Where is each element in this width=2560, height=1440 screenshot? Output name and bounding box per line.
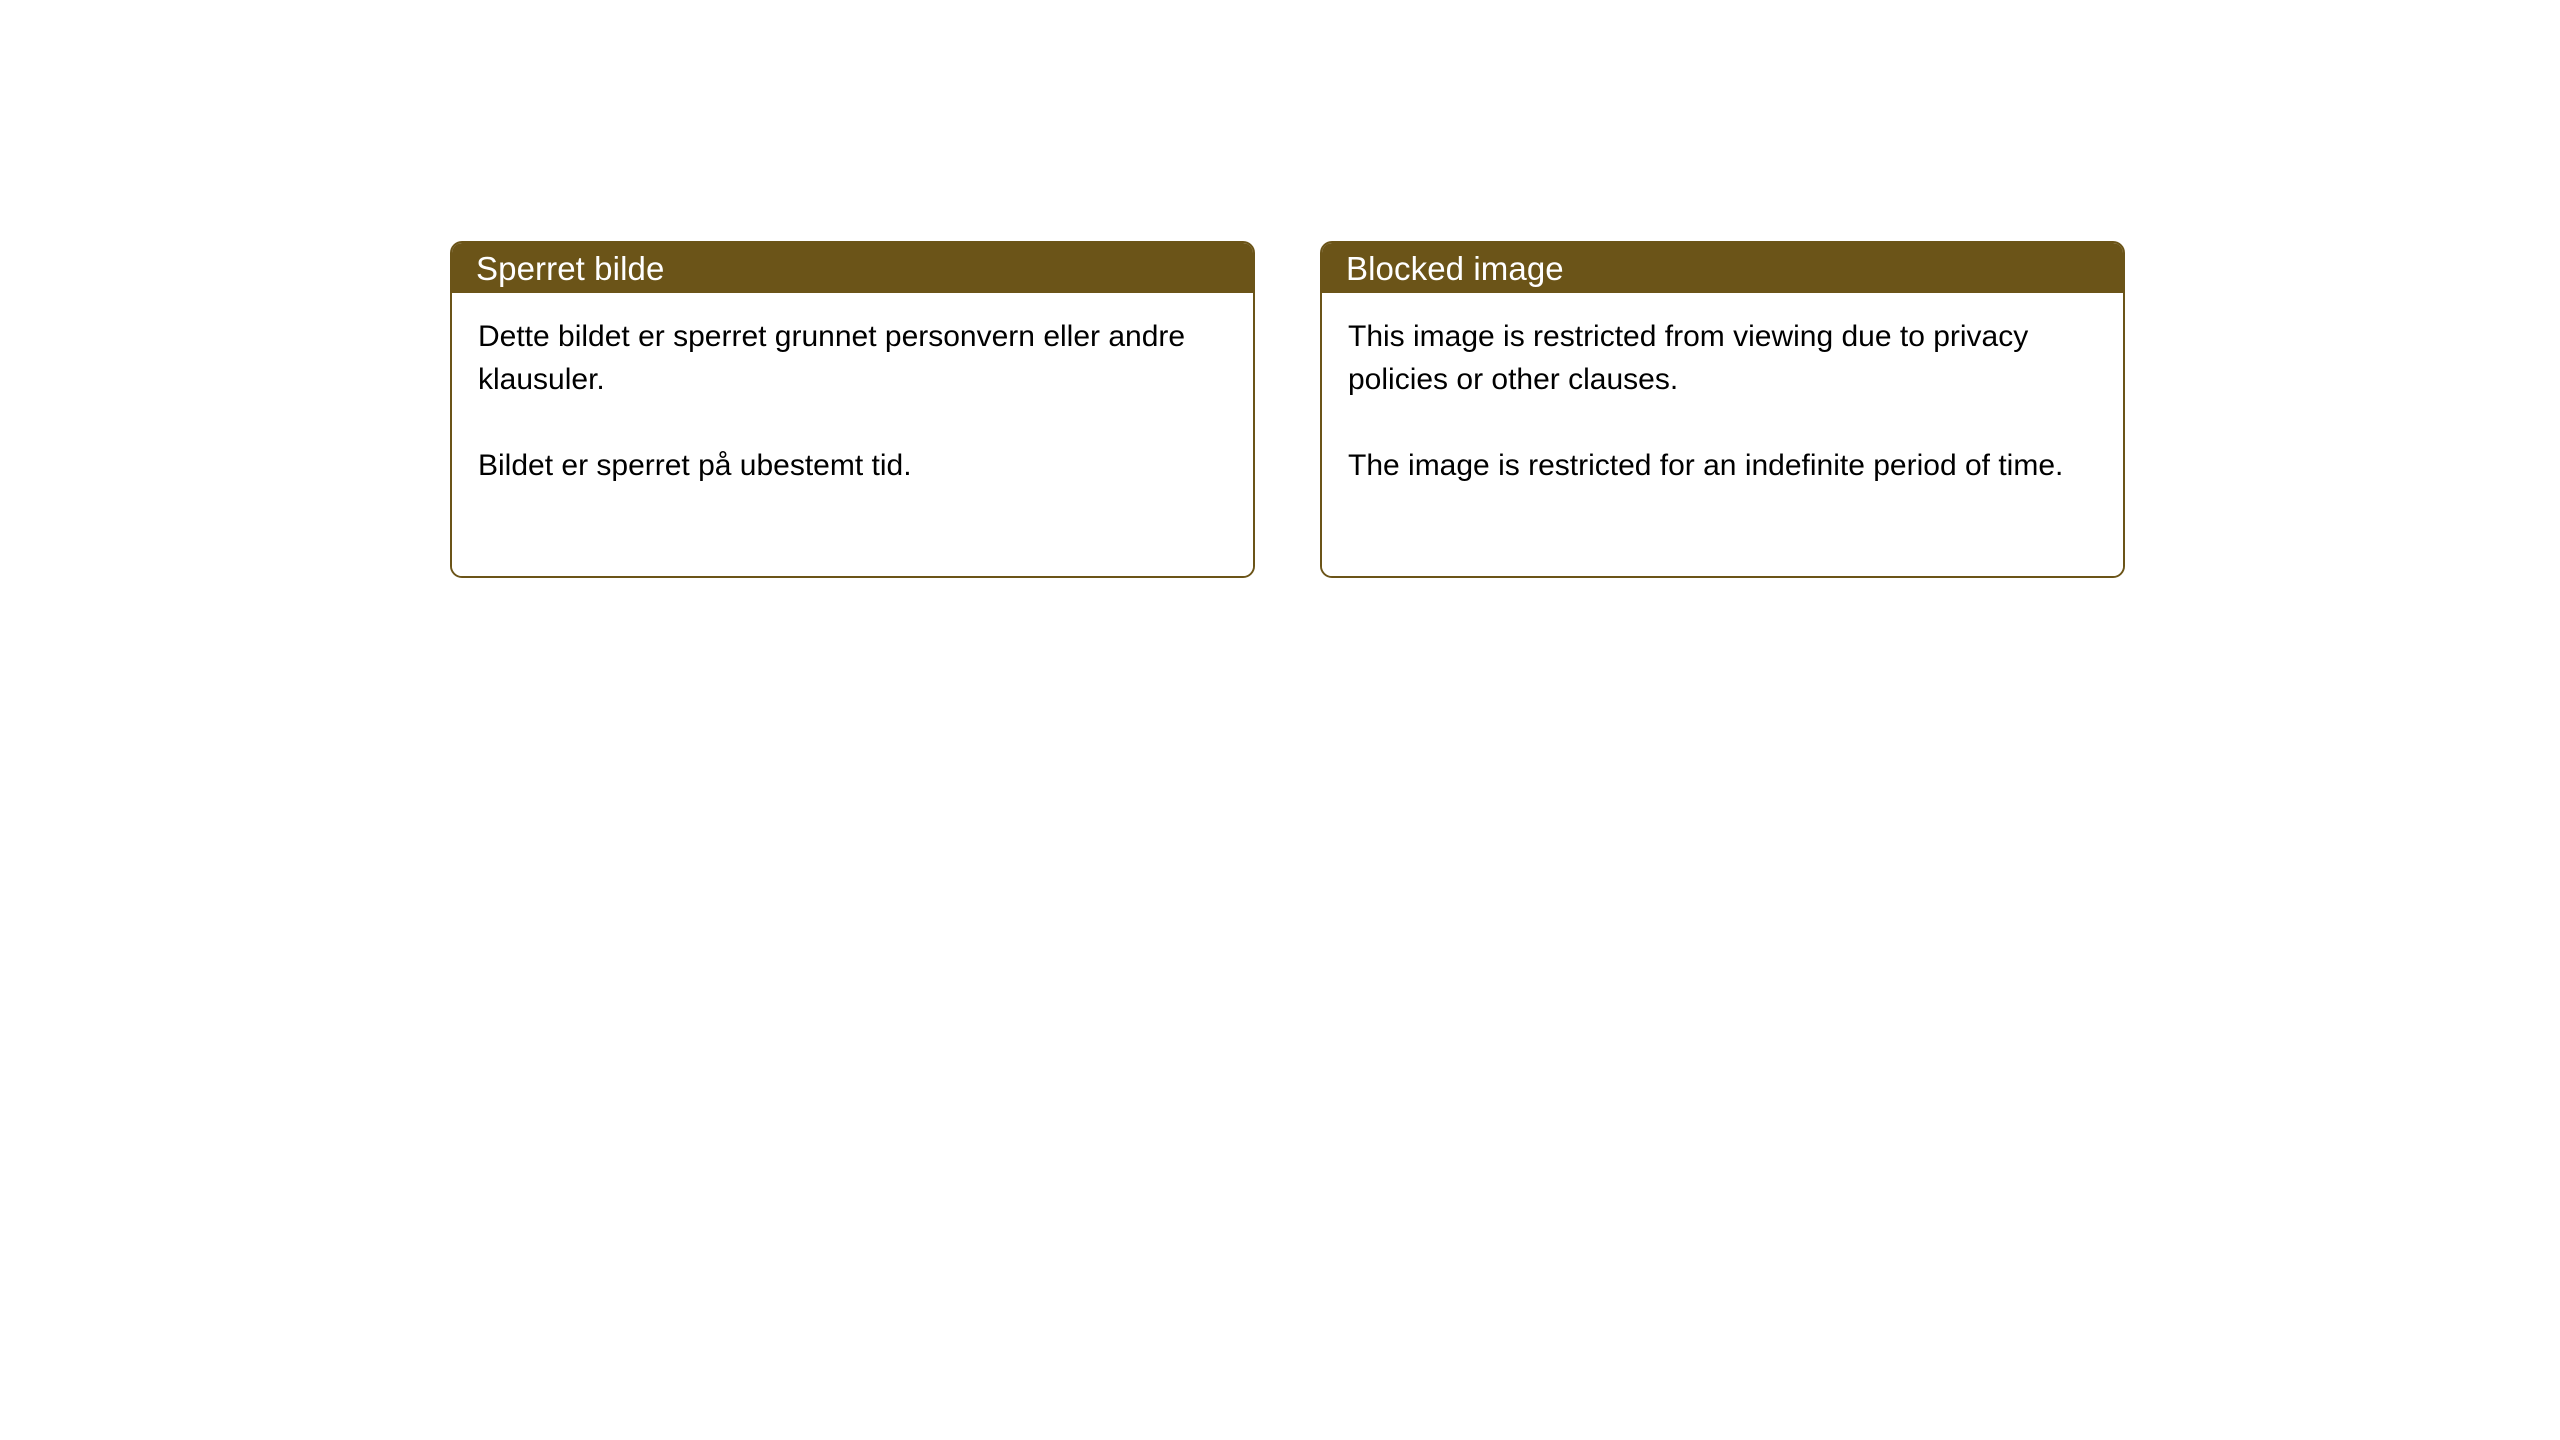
card-paragraph-primary-norwegian: Dette bildet er sperret grunnet personve…	[478, 315, 1208, 401]
card-body-english: This image is restricted from viewing du…	[1322, 293, 2123, 576]
paragraph-spacer-norwegian	[478, 401, 1227, 444]
page-root: Sperret bilde Dette bildet er sperret gr…	[0, 0, 2560, 1440]
card-paragraph-secondary-norwegian: Bildet er sperret på ubestemt tid.	[478, 444, 1208, 487]
blocked-image-notice-norwegian: Sperret bilde Dette bildet er sperret gr…	[450, 241, 1255, 578]
card-title-norwegian: Sperret bilde	[476, 252, 664, 285]
blocked-image-notice-english: Blocked image This image is restricted f…	[1320, 241, 2125, 578]
card-header-english: Blocked image	[1322, 243, 2123, 293]
card-paragraph-secondary-english: The image is restricted for an indefinit…	[1348, 444, 2078, 487]
card-header-norwegian: Sperret bilde	[452, 243, 1253, 293]
card-title-english: Blocked image	[1346, 252, 1564, 285]
card-body-norwegian: Dette bildet er sperret grunnet personve…	[452, 293, 1253, 576]
paragraph-spacer-english	[1348, 401, 2097, 444]
card-paragraph-primary-english: This image is restricted from viewing du…	[1348, 315, 2078, 401]
